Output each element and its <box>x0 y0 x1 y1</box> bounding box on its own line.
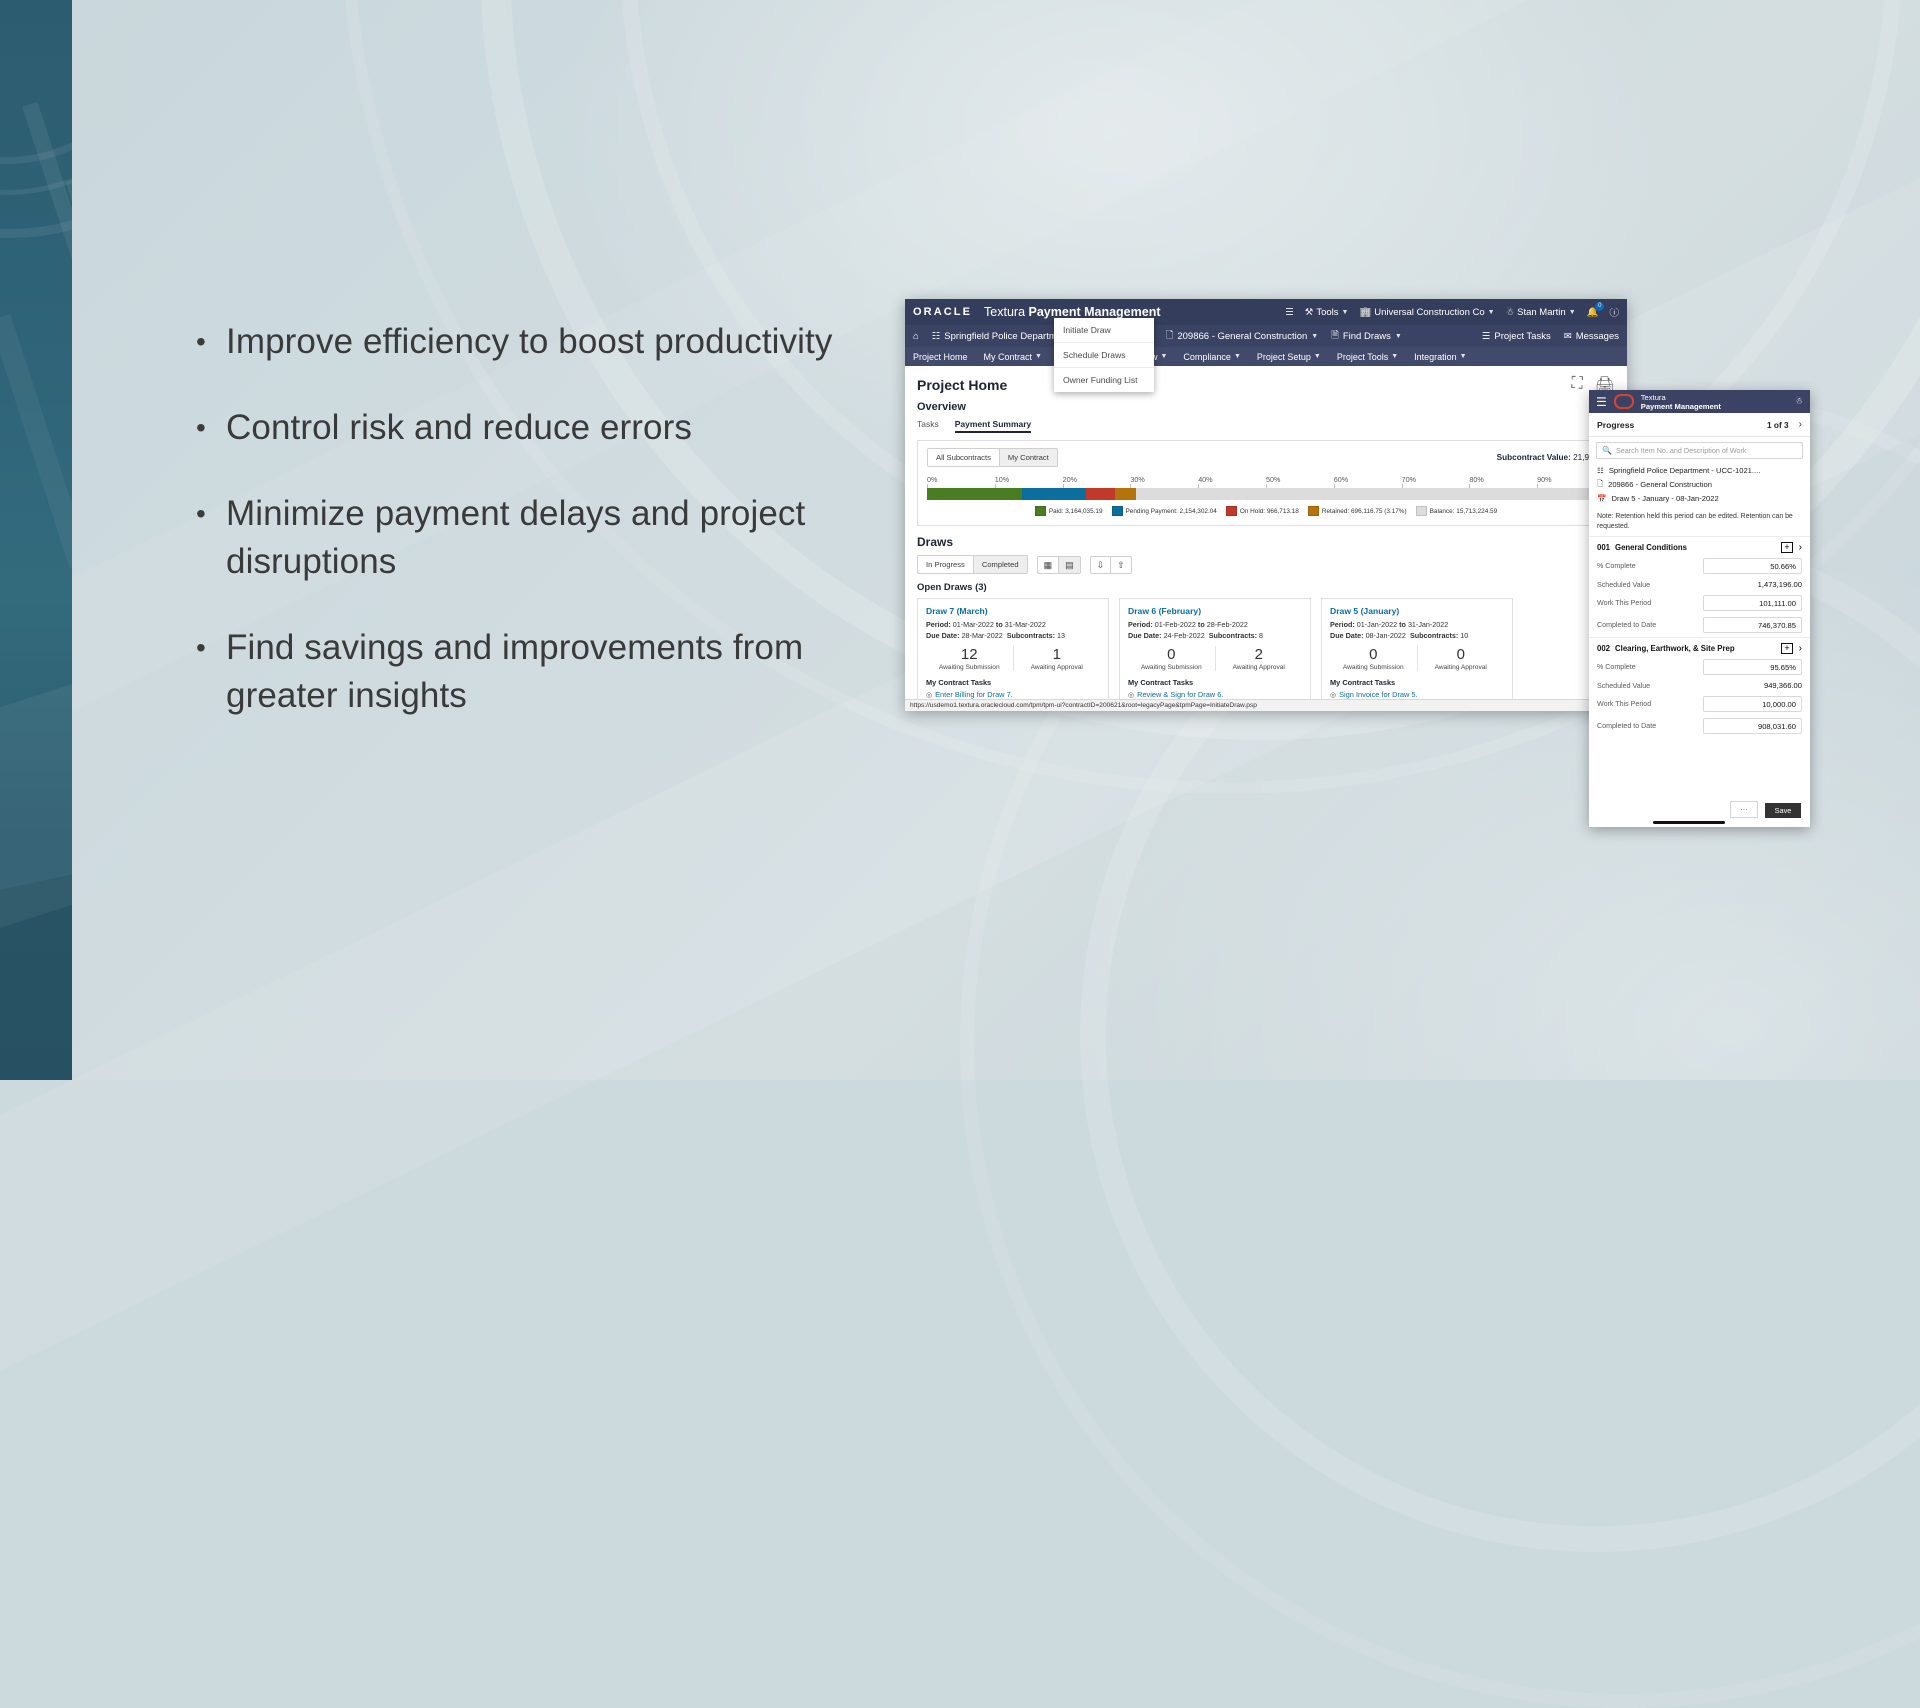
draw-card-period: Period: 01-Jan-2022 to 31-Jan-2022 <box>1330 620 1504 629</box>
bar-segment-retained <box>1115 488 1136 500</box>
draw-card-due: Due Date: 08-Jan-2022 Subcontracts: 10 <box>1330 631 1504 640</box>
task-bullet-icon: ◎ <box>1128 691 1134 699</box>
progress-row[interactable]: Progress 1 of 3 › <box>1589 413 1810 437</box>
subs-value: 13 <box>1057 631 1065 640</box>
due-value: 28-Mar-2022 <box>962 631 1003 640</box>
bar-segment-on-hold <box>1086 488 1115 500</box>
chevron-down-icon: ▼ <box>1391 353 1398 360</box>
home-indicator <box>1653 821 1725 824</box>
mobile-app-panel: ☰ TexturaPayment Management ☃ Progress 1… <box>1589 390 1810 827</box>
task-label: Sign Invoice for Draw 5. <box>1339 690 1417 699</box>
line-item-header[interactable]: 002 Clearing, Earthwork, & Site Prep +› <box>1589 637 1810 657</box>
legend-label: Pending Payment: 2,154,302.04 <box>1126 508 1217 515</box>
nav-label: Project Setup <box>1257 352 1311 362</box>
chevron-down-icon: ▼ <box>1395 333 1402 340</box>
tab-payment-summary[interactable]: Payment Summary <box>955 419 1032 433</box>
user-label: Stan Martin <box>1517 307 1566 318</box>
nav-project-tools[interactable]: Project Tools▼ <box>1337 352 1398 362</box>
line-item-name: General Conditions <box>1615 543 1687 552</box>
draw-card-title[interactable]: Draw 7 (March) <box>926 606 1100 616</box>
meta-text: 209866 - General Construction <box>1608 480 1712 489</box>
scope-my-contract[interactable]: My Contract <box>1000 449 1057 466</box>
subs-label: Subcontracts: <box>1007 631 1055 640</box>
line-item-name: Clearing, Earthwork, & Site Prep <box>1615 644 1735 653</box>
tab-tasks[interactable]: Tasks <box>917 419 939 433</box>
nav-label: Project Home <box>913 352 968 362</box>
user-menu[interactable]: ☃Stan Martin▼ <box>1506 307 1576 318</box>
chevron-down-icon: ▼ <box>1569 309 1576 316</box>
list-icon[interactable]: ☰ <box>1285 307 1294 318</box>
message-icon: ✉ <box>1564 331 1572 342</box>
decorative-slash <box>0 314 72 568</box>
period-end: 28-Feb-2022 <box>1207 620 1248 629</box>
line-item-header[interactable]: 001 General Conditions +› <box>1589 536 1810 556</box>
legend-item: Paid: 3,164,035.19 <box>1035 506 1103 516</box>
axis-tick: 70% <box>1402 475 1470 485</box>
tools-label: Tools <box>1316 307 1338 318</box>
overview-title: Overview <box>905 397 1627 413</box>
field-scheduled-value: Scheduled Value1,473,196.00 <box>1589 578 1810 591</box>
project-tasks-link[interactable]: ☰Project Tasks <box>1482 331 1551 342</box>
legend-item: Retained: 696,116.75 (3.17%) <box>1308 506 1407 516</box>
period-end: 31-Mar-2022 <box>1005 620 1046 629</box>
help-icon[interactable]: ⓘ <box>1609 305 1619 319</box>
draws-heading: Draws <box>905 526 1627 549</box>
legend-item: Balance: 15,713,224.59 <box>1416 506 1498 516</box>
nav-compliance[interactable]: Compliance▼ <box>1183 352 1240 362</box>
awaiting-approval-stat: 2Awaiting Approval <box>1216 646 1303 671</box>
search-input[interactable]: 🔍 Search Item No. and Description of Wor… <box>1596 442 1803 459</box>
axis-tick: 50% <box>1266 475 1334 485</box>
nav-integration[interactable]: Integration▼ <box>1414 352 1466 362</box>
scope-all-subcontracts[interactable]: All Subcontracts <box>928 449 1000 466</box>
draw-card-due: Due Date: 28-Mar-2022 Subcontracts: 13 <box>926 631 1100 640</box>
messages-label: Messages <box>1576 331 1619 342</box>
my-contract-tasks-label: My Contract Tasks <box>1128 678 1302 687</box>
stat-number: 0 <box>1418 646 1505 664</box>
field-work-this-period: Work This Period10,000.00 <box>1589 694 1810 714</box>
bullet-item: • Minimize payment delays and project di… <box>196 490 836 586</box>
field-input[interactable]: 908,031.60 <box>1703 718 1802 734</box>
bullet-marker-icon: • <box>196 318 226 366</box>
stat-label: Awaiting Submission <box>1330 664 1417 671</box>
main-navigation: Project Home My Contract▼ Subcontracts▼ … <box>905 347 1627 366</box>
desktop-app-screenshot: ORACLE Textura Payment Management ☰ ⚒Too… <box>905 299 1627 711</box>
sort-descending-icon[interactable]: ⇧ <box>1111 557 1131 573</box>
field-input[interactable]: 10,000.00 <box>1703 696 1802 712</box>
nav-label: Integration <box>1414 352 1457 362</box>
progress-label: Progress <box>1597 420 1634 430</box>
draw-card[interactable]: Draw 6 (February) Period: 01-Feb-2022 to… <box>1119 598 1311 711</box>
field-label: Work This Period <box>1597 599 1651 607</box>
legend-swatch <box>1226 506 1237 516</box>
progress-count: 1 of 3 <box>1767 420 1789 430</box>
draw-card-period: Period: 01-Mar-2022 to 31-Mar-2022 <box>926 620 1100 629</box>
draw-card[interactable]: Draw 5 (January) Period: 01-Jan-2022 to … <box>1321 598 1513 711</box>
chevron-down-icon: ▼ <box>1311 333 1318 340</box>
mobile-brand: TexturaPayment Management <box>1641 393 1721 411</box>
axis-tick: 60% <box>1334 475 1402 485</box>
toggle-in-progress[interactable]: In Progress <box>918 556 974 573</box>
subcontract-value-label: Subcontract Value: <box>1497 453 1571 462</box>
legend-label: On Hold: 966,713.18 <box>1240 508 1299 515</box>
meta-project: ☷Springfield Police Department - UCC-102… <box>1597 466 1802 475</box>
list-view-icon[interactable]: ▤ <box>1059 557 1080 573</box>
search-doc-icon: 🗎 <box>1331 328 1339 344</box>
meta-text: Springfield Police Department - UCC-1021… <box>1609 466 1761 475</box>
field-percent-complete: % Complete95.65% <box>1589 657 1810 677</box>
add-comment-icon[interactable]: + <box>1781 542 1792 553</box>
person-icon: ☃ <box>1506 307 1515 318</box>
due-label: Due Date: <box>1128 631 1162 640</box>
draw-state-toggle: In Progress Completed <box>917 555 1028 574</box>
toggle-completed[interactable]: Completed <box>974 556 1027 573</box>
nav-label: Project Tools <box>1337 352 1388 362</box>
field-value: 1,473,196.00 <box>1758 580 1802 589</box>
chevron-right-icon[interactable]: › <box>1799 419 1802 430</box>
stat-label: Awaiting Submission <box>926 664 1013 671</box>
bullet-marker-icon: • <box>196 404 226 452</box>
breadcrumb-contract-label: 209866 - General Construction <box>1177 331 1307 342</box>
period-to: to <box>1198 620 1205 629</box>
chart-legend: Paid: 3,164,035.19Pending Payment: 2,154… <box>927 506 1605 516</box>
draw-card-title[interactable]: Draw 6 (February) <box>1128 606 1302 616</box>
chevron-down-icon: ▼ <box>1488 309 1495 316</box>
menu-item-owner-funding-list[interactable]: Owner Funding List <box>1054 368 1154 392</box>
project-tasks-label: Project Tasks <box>1494 331 1550 342</box>
bar-segment-pending-payment <box>1022 488 1086 500</box>
field-label: % Complete <box>1597 663 1636 671</box>
stat-label: Awaiting Approval <box>1418 664 1505 671</box>
awaiting-approval-stat: 0Awaiting Approval <box>1418 646 1505 671</box>
stat-number: 1 <box>1014 646 1101 664</box>
decorative-wedge <box>0 858 72 1080</box>
legend-item: Pending Payment: 2,154,302.04 <box>1112 506 1217 516</box>
field-label: Completed to Date <box>1597 722 1656 730</box>
period-start: 01-Mar-2022 <box>953 620 994 629</box>
home-icon[interactable]: ⌂ <box>913 331 919 342</box>
bullet-text: Control risk and reduce errors <box>226 404 692 452</box>
chart-axis: 0% 10% 20% 30% 40% 50% 60% 70% 80% 90% <box>927 475 1605 485</box>
bullet-item: • Control risk and reduce errors <box>196 404 836 452</box>
company-menu[interactable]: 🏢Universal Construction Co▼ <box>1359 307 1494 318</box>
search-placeholder: Search Item No. and Description of Work <box>1616 446 1747 455</box>
field-label: Scheduled Value <box>1597 682 1650 690</box>
period-start: 01-Jan-2022 <box>1357 620 1397 629</box>
status-bar-url: https://usdemo1.textura.oraclecloud.com/… <box>905 699 1627 711</box>
my-contract-tasks-label: My Contract Tasks <box>1330 678 1504 687</box>
field-label: % Complete <box>1597 562 1636 570</box>
product-name-bold: Payment Management <box>1029 305 1161 319</box>
due-label: Due Date: <box>926 631 960 640</box>
meta-text: Draw 5 - January - 08-Jan-2022 <box>1611 494 1718 503</box>
save-button[interactable]: Save <box>1765 803 1801 818</box>
subs-label: Subcontracts: <box>1209 631 1257 640</box>
axis-tick: 30% <box>1130 475 1198 485</box>
legend-label: Paid: 3,164,035.19 <box>1049 508 1103 515</box>
axis-tick: 20% <box>1063 475 1131 485</box>
chevron-down-icon: ▼ <box>1460 353 1467 360</box>
legend-item: On Hold: 966,713.18 <box>1226 506 1299 516</box>
draw-card-period: Period: 01-Feb-2022 to 28-Feb-2022 <box>1128 620 1302 629</box>
page-header: Project Home ⛶ 🖨 <box>905 366 1627 397</box>
org-icon: ☷ <box>932 331 941 342</box>
brand-bold: Payment Management <box>1641 402 1721 411</box>
stat-label: Awaiting Approval <box>1216 664 1303 671</box>
retention-note: Note: Retention held this period can be … <box>1589 506 1810 536</box>
task-label: Review & Sign for Draw 6. <box>1137 690 1223 699</box>
tools-icon: ⚒ <box>1305 307 1314 318</box>
field-work-this-period: Work This Period101,111.00 <box>1589 593 1810 613</box>
add-comment-icon[interactable]: + <box>1781 643 1792 654</box>
stat-number: 0 <box>1330 646 1417 664</box>
mobile-footer: ··· Save <box>1589 797 1810 827</box>
document-icon: 🗋 <box>1597 478 1603 491</box>
brand-light: Textura <box>1641 393 1666 402</box>
hamburger-menu-icon[interactable]: ☰ <box>1596 396 1607 408</box>
period-to: to <box>1399 620 1406 629</box>
task-label: Enter Billing for Draw 7. <box>935 690 1013 699</box>
document-icon: 🗋 <box>1166 328 1174 344</box>
chevron-down-icon: ▼ <box>1342 309 1349 316</box>
stat-number: 12 <box>926 646 1013 664</box>
stat-number: 0 <box>1128 646 1215 664</box>
chevron-down-icon: ▼ <box>1314 353 1321 360</box>
legend-label: Retained: 696,116.75 (3.17%) <box>1322 508 1407 515</box>
chevron-down-icon: ▼ <box>1234 353 1241 360</box>
legend-swatch <box>1112 506 1123 516</box>
field-scheduled-value: Scheduled Value949,366.00 <box>1589 679 1810 692</box>
period-label: Period: <box>926 620 951 629</box>
stat-label: Awaiting Approval <box>1014 664 1101 671</box>
line-item-number: 002 <box>1597 644 1610 653</box>
stat-number: 2 <box>1216 646 1303 664</box>
breadcrumb-find-label: Find Draws <box>1343 331 1391 342</box>
meta-contract: 🗋209866 - General Construction <box>1597 478 1802 491</box>
bullet-text: Find savings and improvements from great… <box>226 624 836 720</box>
awaiting-submission-stat: 0Awaiting Submission <box>1128 646 1216 671</box>
sort-group: ⇩ ⇧ <box>1090 556 1132 574</box>
period-end: 31-Jan-2022 <box>1408 620 1448 629</box>
overview-tabs: Tasks Payment Summary <box>905 413 1627 433</box>
chevron-down-icon: ▼ <box>1160 353 1167 360</box>
field-completed-to-date: Completed to Date746,370.85 <box>1589 615 1810 635</box>
draw-dropdown-menu: Initiate Draw Schedule Draws Owner Fundi… <box>1054 318 1154 392</box>
open-draws-heading: Open Draws (3) <box>905 574 1627 593</box>
field-label: Work This Period <box>1597 700 1651 708</box>
page-title: Project Home <box>917 377 1007 393</box>
due-value: 24-Feb-2022 <box>1164 631 1205 640</box>
scope-toggle: All Subcontracts My Contract <box>927 448 1058 467</box>
mobile-context-meta: ☷Springfield Police Department - UCC-102… <box>1589 464 1810 503</box>
field-label: Completed to Date <box>1597 621 1656 629</box>
line-item-number: 001 <box>1597 543 1610 552</box>
chevron-right-icon[interactable]: › <box>1799 643 1802 654</box>
legend-label: Balance: 15,713,224.59 <box>1430 508 1498 515</box>
field-value: 949,366.00 <box>1764 681 1802 690</box>
task-bullet-icon: ◎ <box>1330 691 1336 699</box>
search-icon: 🔍 <box>1602 446 1612 455</box>
chevron-right-icon[interactable]: › <box>1799 542 1802 553</box>
bullet-list: • Improve efficiency to boost productivi… <box>196 318 836 758</box>
org-icon: ☷ <box>1597 466 1604 475</box>
textura-logo-icon <box>1614 394 1634 409</box>
bell-icon[interactable]: 🔔 <box>1587 307 1599 318</box>
draw-card[interactable]: Draw 7 (March) Period: 01-Mar-2022 to 31… <box>917 598 1109 711</box>
oracle-logo: ORACLE <box>913 306 972 318</box>
field-input[interactable]: 50.66% <box>1703 558 1802 574</box>
company-label: Universal Construction Co <box>1374 307 1484 318</box>
period-label: Period: <box>1128 620 1153 629</box>
axis-tick: 10% <box>995 475 1063 485</box>
stat-label: Awaiting Submission <box>1128 664 1215 671</box>
bullet-marker-icon: • <box>196 624 226 672</box>
subs-value: 10 <box>1460 631 1468 640</box>
person-icon[interactable]: ☃ <box>1795 396 1803 407</box>
bullet-item: • Find savings and improvements from gre… <box>196 624 836 720</box>
more-options-button[interactable]: ··· <box>1730 801 1758 818</box>
view-mode-group: ▦ ▤ <box>1037 556 1081 574</box>
axis-tick: 80% <box>1469 475 1537 485</box>
building-icon: 🏢 <box>1359 307 1371 318</box>
awaiting-submission-stat: 12Awaiting Submission <box>926 646 1014 671</box>
nav-project-setup[interactable]: Project Setup▼ <box>1257 352 1321 362</box>
field-input[interactable]: 101,111.00 <box>1703 595 1802 611</box>
legend-swatch <box>1035 506 1046 516</box>
nav-project-home[interactable]: Project Home <box>913 352 968 362</box>
draw-card-row: Draw 7 (March) Period: 01-Mar-2022 to 31… <box>905 593 1627 711</box>
draws-controls: In Progress Completed ▦ ▤ ⇩ ⇧ <box>905 549 1627 574</box>
breadcrumb-find-draws[interactable]: 🗎Find Draws▼ <box>1331 328 1402 344</box>
field-completed-to-date: Completed to Date908,031.60 <box>1589 716 1810 736</box>
stacked-progress-bar <box>927 488 1605 500</box>
period-to: to <box>996 620 1003 629</box>
my-contract-task-link[interactable]: ◎Sign Invoice for Draw 5. <box>1330 690 1504 699</box>
period-label: Period: <box>1330 620 1355 629</box>
subs-label: Subcontracts: <box>1410 631 1458 640</box>
expand-icon[interactable]: ⛶ <box>1571 375 1582 395</box>
my-contract-task-link[interactable]: ◎Review & Sign for Draw 6. <box>1128 690 1302 699</box>
product-name: Textura Payment Management <box>984 305 1160 319</box>
sort-ascending-icon[interactable]: ⇩ <box>1091 557 1112 573</box>
messages-link[interactable]: ✉Messages <box>1564 331 1619 342</box>
axis-tick: 40% <box>1198 475 1266 485</box>
due-value: 08-Jan-2022 <box>1366 631 1406 640</box>
field-percent-complete: % Complete50.66% <box>1589 556 1810 576</box>
menu-item-schedule-draws[interactable]: Schedule Draws <box>1054 343 1154 368</box>
awaiting-submission-stat: 0Awaiting Submission <box>1330 646 1418 671</box>
field-input[interactable]: 95.65% <box>1703 659 1802 675</box>
tools-menu[interactable]: ⚒Tools▼ <box>1305 307 1349 318</box>
bullet-item: • Improve efficiency to boost productivi… <box>196 318 836 366</box>
draw-card-title[interactable]: Draw 5 (January) <box>1330 606 1504 616</box>
app-global-header: ORACLE Textura Payment Management ☰ ⚒Too… <box>905 299 1627 325</box>
meta-draw: 📅Draw 5 - January - 08-Jan-2022 <box>1597 494 1802 503</box>
bar-segment-paid <box>927 488 1022 500</box>
axis-tick: 0% <box>927 475 995 485</box>
awaiting-approval-stat: 1Awaiting Approval <box>1014 646 1101 671</box>
legend-swatch <box>1308 506 1319 516</box>
calendar-icon: 📅 <box>1597 494 1606 503</box>
legend-swatch <box>1416 506 1427 516</box>
breadcrumb: ⌂ ☷Springfield Police Department - UCC-1… <box>905 325 1627 347</box>
task-bullet-icon: ◎ <box>926 691 932 699</box>
chevron-down-icon: ▼ <box>1035 353 1042 360</box>
nav-label: Compliance <box>1183 352 1231 362</box>
product-name-light: Textura <box>984 305 1028 319</box>
bullet-text: Minimize payment delays and project disr… <box>226 490 836 586</box>
menu-item-initiate-draw[interactable]: Initiate Draw <box>1054 318 1154 343</box>
my-contract-tasks-label: My Contract Tasks <box>926 678 1100 687</box>
due-label: Due Date: <box>1330 631 1364 640</box>
payment-summary-chart: All Subcontracts My Contract Subcontract… <box>917 440 1615 526</box>
field-label: Scheduled Value <box>1597 581 1650 589</box>
my-contract-task-link[interactable]: ◎Enter Billing for Draw 7. <box>926 690 1100 699</box>
nav-label: My Contract <box>984 352 1033 362</box>
period-start: 01-Feb-2022 <box>1155 620 1196 629</box>
bullet-marker-icon: • <box>196 490 226 538</box>
bar-segment-balance <box>1136 488 1605 500</box>
tasks-icon: ☰ <box>1482 331 1491 342</box>
draw-card-due: Due Date: 24-Feb-2022 Subcontracts: 8 <box>1128 631 1302 640</box>
grid-view-icon[interactable]: ▦ <box>1038 557 1060 573</box>
accent-band <box>0 0 72 1080</box>
mobile-header: ☰ TexturaPayment Management ☃ <box>1589 390 1810 413</box>
bullet-text: Improve efficiency to boost productivity <box>226 318 832 366</box>
breadcrumb-contract[interactable]: 🗋209866 - General Construction▼ <box>1166 328 1319 344</box>
field-input[interactable]: 746,370.85 <box>1703 617 1802 633</box>
nav-my-contract[interactable]: My Contract▼ <box>984 352 1042 362</box>
subs-value: 8 <box>1259 631 1263 640</box>
